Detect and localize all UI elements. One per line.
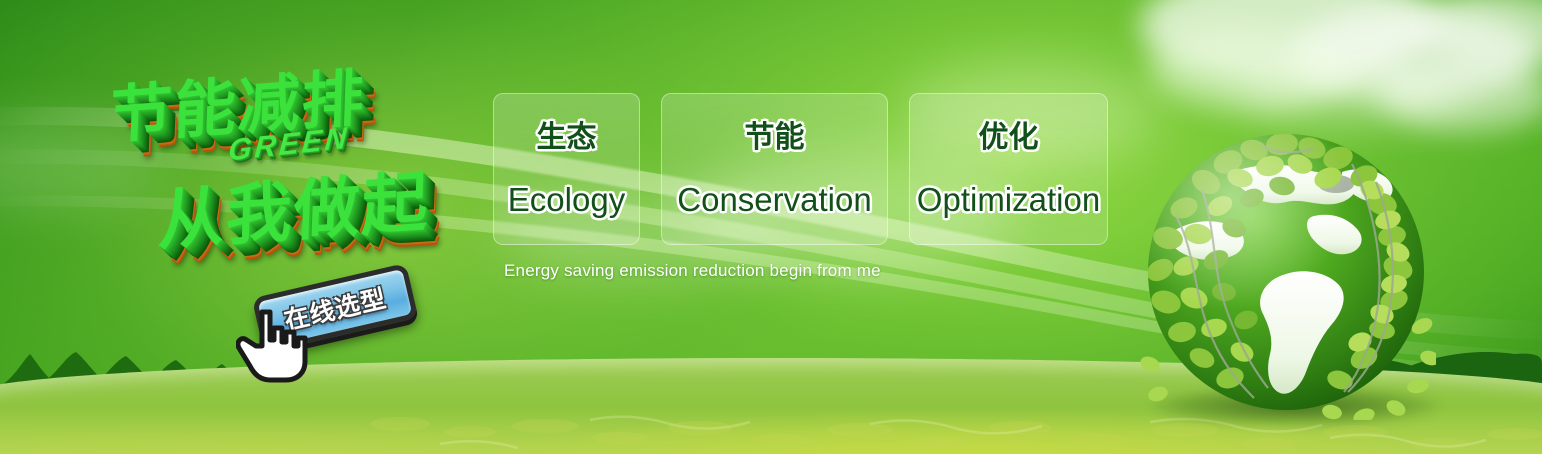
banner-tagline: Energy saving emission reduction begin f… (504, 261, 881, 281)
leafy-earth-globe-icon (1136, 120, 1448, 432)
cloud-icon (1290, 6, 1540, 102)
cloud-icon (1150, 26, 1350, 112)
feature-card-list: 生态 Ecology 节能 Conservation 优化 Optimizati… (493, 93, 1108, 245)
feature-card-optimization[interactable]: 优化 Optimization (909, 93, 1108, 245)
cloud-icon (1420, 0, 1542, 68)
online-selection-cta[interactable]: 在线选型 (252, 272, 427, 367)
feature-card-ecology[interactable]: 生态 Ecology (493, 93, 640, 245)
pointing-hand-cursor-icon (236, 306, 308, 384)
headline-3d-text: 节能减排 从我做起 GREEN (100, 40, 480, 270)
feature-card-en-label: Optimization (917, 183, 1100, 216)
cloud-icon (1140, 0, 1440, 86)
eco-promo-banner: 节能减排 从我做起 GREEN 在线选型 生态 Ecology 节能 Conse… (0, 0, 1542, 454)
headline-line-2: 从我做起 (157, 148, 432, 263)
feature-card-cn-label: 节能 (745, 123, 805, 153)
feature-card-cn-label: 优化 (979, 123, 1039, 153)
feature-card-en-label: Ecology (508, 183, 625, 216)
feature-card-en-label: Conservation (677, 183, 871, 216)
feature-card-conservation[interactable]: 节能 Conservation (661, 93, 888, 245)
feature-card-cn-label: 生态 (537, 123, 597, 153)
cloud-icon (1240, 66, 1460, 126)
